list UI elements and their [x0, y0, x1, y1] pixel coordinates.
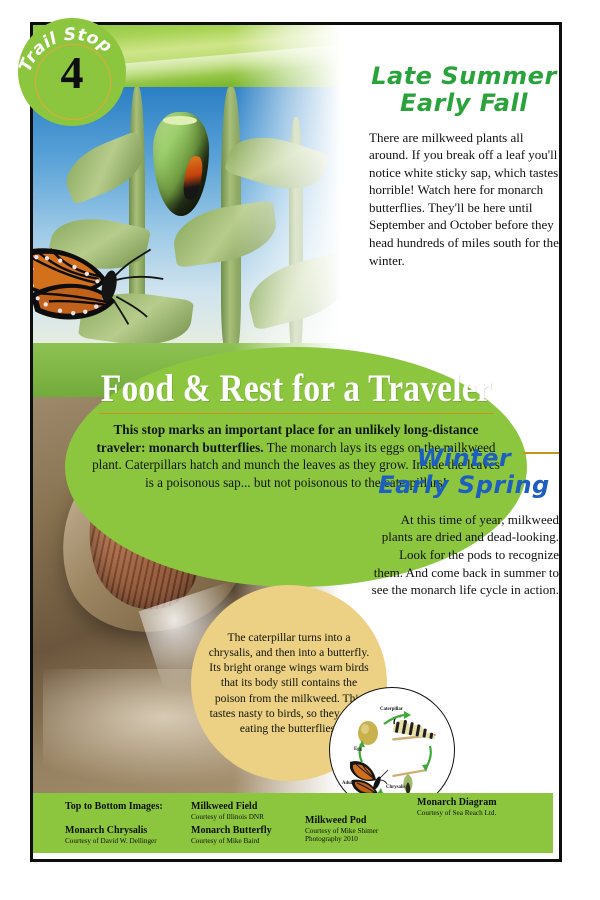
credit-item-4: Monarch Diagram Courtesy of Sea Reach Lt… — [417, 797, 497, 817]
monarch-chrysalis-photo — [153, 112, 209, 216]
credit-item-0: Monarch Chrysalis Courtesy of David W. D… — [65, 825, 157, 845]
poster-frame: Food & Rest for a Traveler This stop mar… — [30, 22, 562, 862]
trail-stop-badge: Trail Stop 4 — [18, 18, 126, 126]
season-fall-line2: Early Fall — [369, 90, 559, 117]
credit-sub: Courtesy of Mike Shimer — [305, 827, 378, 836]
season-winter-line2: Early Spring — [369, 472, 559, 499]
credit-item-1: Milkweed Field Courtesy of Illinois DNR — [191, 801, 264, 821]
right-text-column: Late Summer Early Fall There are milkwee… — [369, 25, 559, 599]
fall-body-text: There are milkweed plants all around. If… — [369, 129, 559, 269]
right-gold-rule — [523, 452, 562, 454]
credit-title: Monarch Diagram — [417, 797, 497, 809]
credit-title: Milkweed Pod — [305, 815, 378, 827]
life-cycle-label-caterpillar: Caterpillar — [380, 707, 404, 712]
credit-item-3: Milkweed Pod Courtesy of Mike Shimer Pho… — [305, 815, 378, 844]
credit-title: Milkweed Field — [191, 801, 264, 813]
season-fall-line1: Late Summer — [369, 63, 559, 90]
image-credits-strip: Top to Bottom Images: Monarch Chrysalis … — [33, 793, 553, 853]
credit-title: Monarch Chrysalis — [65, 825, 157, 837]
interpretive-sign-poster: Food & Rest for a Traveler This stop mar… — [0, 0, 600, 900]
credits-heading: Top to Bottom Images: — [65, 801, 163, 813]
credit-item-2: Monarch Butterfly Courtesy of Mike Baird — [191, 825, 272, 845]
trail-stop-number: 4 — [18, 50, 126, 96]
life-cycle-label-chrysalis: Chrysalis — [386, 785, 406, 790]
season-winter-line1: Winter — [369, 445, 559, 472]
credit-title: Monarch Butterfly — [191, 825, 272, 837]
season-heading-fall: Late Summer Early Fall — [369, 63, 559, 117]
monarch-butterfly-photo — [30, 221, 171, 339]
credit-sub: Courtesy of David W. Dellinger — [65, 837, 157, 846]
life-cycle-label-adult: Adult — [342, 781, 354, 786]
winter-body-text: At this time of year, milkweed plants ar… — [369, 511, 559, 599]
credit-sub: Courtesy of Mike Baird — [191, 837, 272, 846]
life-cycle-label-egg: Egg — [354, 747, 363, 752]
credit-sub-2: Photography 2010 — [305, 835, 378, 844]
credit-sub: Courtesy of Illinois DNR — [191, 813, 264, 822]
credit-sub: Courtesy of Sea Reach Ltd. — [417, 809, 497, 818]
